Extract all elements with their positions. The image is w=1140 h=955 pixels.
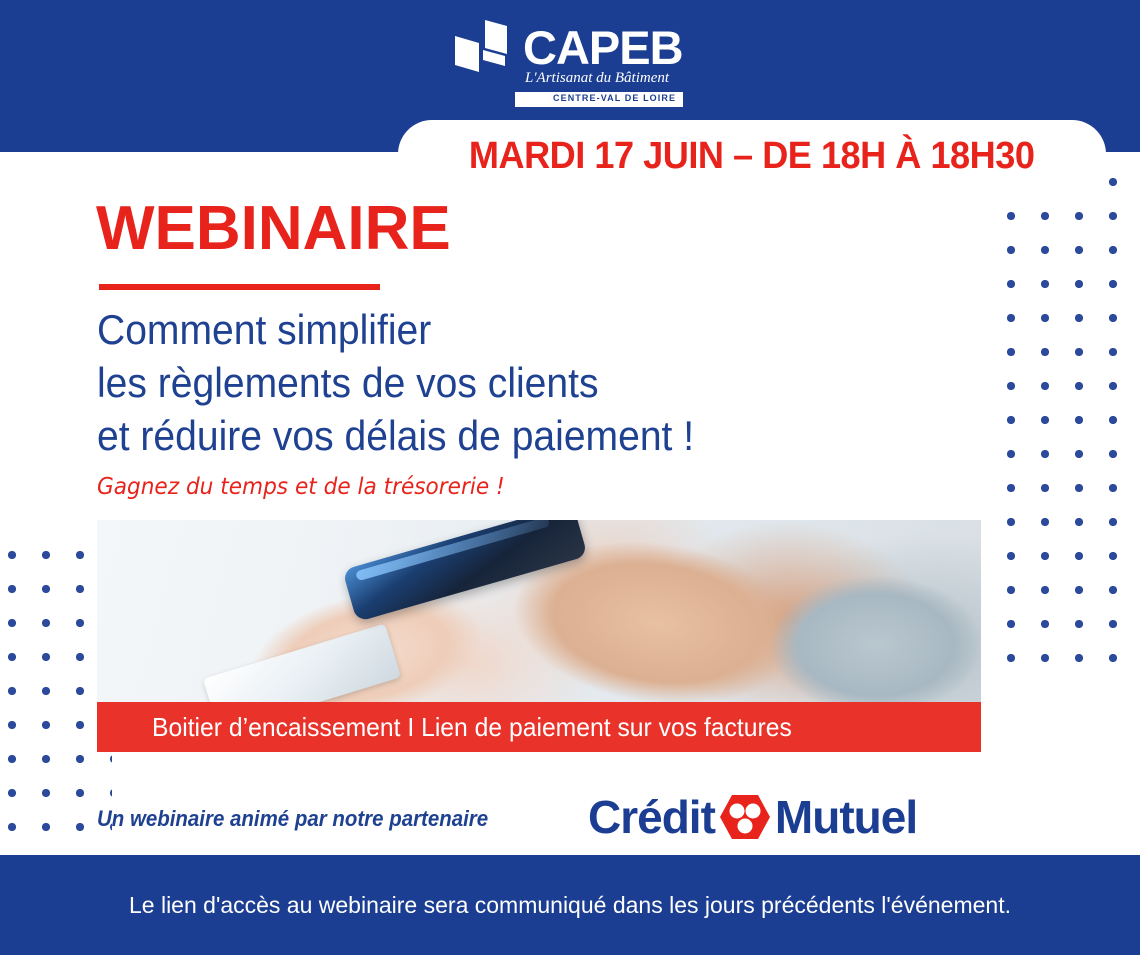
headline-line-2: les règlements de vos clients (97, 356, 841, 409)
headline: Comment simplifier les règlements de vos… (97, 303, 841, 462)
page-title: WEBINAIRE (96, 198, 451, 260)
capeb-region-badge: CENTRE-VAL DE LOIRE (515, 92, 683, 107)
credit-mutuel-word-mutuel: Mutuel (775, 794, 917, 840)
credit-mutuel-hexagon-icon (719, 794, 771, 840)
capeb-region-label: CENTRE-VAL DE LOIRE (553, 93, 676, 103)
headline-line-1: Comment simplifier (97, 303, 841, 356)
credit-mutuel-word-credit: Crédit (588, 794, 715, 840)
photo-sleeve (761, 570, 981, 702)
webinar-poster: CAPEB L'Artisanat du Bâtiment CENTRE-VAL… (0, 0, 1140, 955)
credit-mutuel-logo: Crédit Mutuel (588, 791, 917, 843)
capeb-wordmark: CAPEB (523, 24, 683, 71)
footer-bar: Le lien d'accès au webinaire sera commun… (0, 855, 1140, 955)
footer-text: Le lien d'accès au webinaire sera commun… (129, 892, 1011, 919)
hero-photo (97, 520, 981, 702)
caption-bar: Boitier d’encaissement I Lien de paiemen… (97, 702, 981, 752)
capeb-logo: CAPEB L'Artisanat du Bâtiment CENTRE-VAL… (455, 18, 685, 108)
tagline: Gagnez du temps et de la trésorerie ! (97, 474, 505, 500)
headline-line-3: et réduire vos délais de paiement ! (97, 409, 841, 462)
capeb-tagline: L'Artisanat du Bâtiment (525, 70, 669, 87)
title-underline (99, 284, 380, 290)
caption-text: Boitier d’encaissement I Lien de paiemen… (152, 712, 792, 743)
date-banner: MARDI 17 JUIN – DE 18H À 18H30 (398, 120, 1106, 192)
partner-intro-text: Un webinaire animé par notre partenaire (97, 806, 488, 832)
capeb-logo-mark-icon (455, 20, 523, 82)
date-text: MARDI 17 JUIN – DE 18H À 18H30 (469, 135, 1035, 178)
